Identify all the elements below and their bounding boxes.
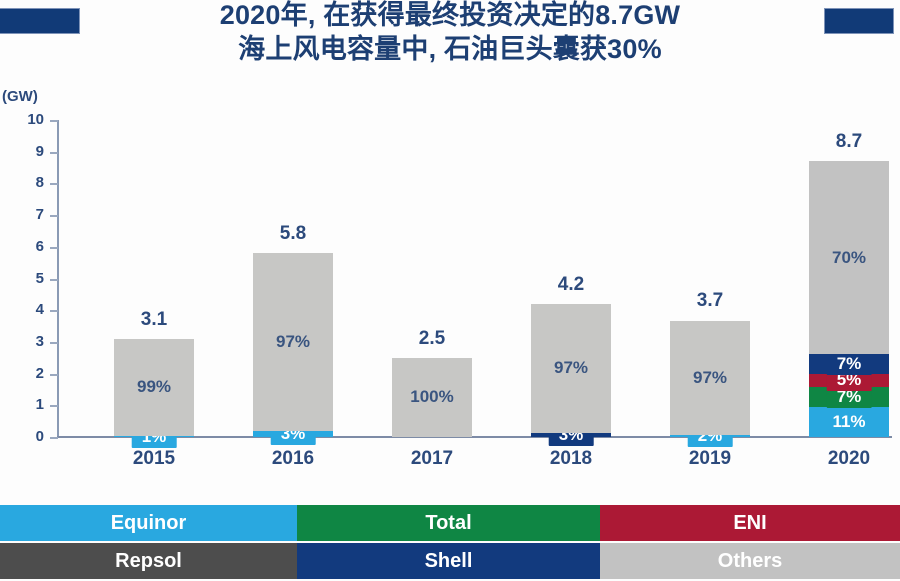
bar-group-2017[interactable]: 100%2.5 [367, 120, 497, 437]
stacked-bar[interactable]: 3%97% [253, 253, 333, 437]
x-axis-label-2015: 2015 [89, 448, 219, 470]
bar-segment-others[interactable]: 70% [809, 161, 889, 354]
chart-area: (GW) 109876543210 1%99%3.13%97%5.8100%2.… [0, 72, 900, 495]
bar-segment-equinor[interactable]: 1% [114, 436, 194, 437]
bar-segment-others[interactable]: 97% [253, 253, 333, 431]
stacked-bar[interactable]: 3%97% [531, 304, 611, 437]
bar-segment-shell[interactable]: 7% [809, 354, 889, 373]
bar-segment-shell[interactable]: 3% [531, 433, 611, 437]
segment-percent-label: 99% [137, 377, 171, 397]
segment-percent-label: 11% [832, 412, 865, 432]
y-axis-tick-label: 5 [8, 270, 44, 287]
y-axis-tick-label: 2 [8, 365, 44, 382]
y-axis-tick-label: 8 [8, 174, 44, 191]
x-axis-label-2020: 2020 [784, 448, 900, 470]
bar-total-label: 4.2 [506, 274, 636, 296]
bar-group-2016[interactable]: 3%97%5.8 [228, 120, 358, 437]
stacked-bar[interactable]: 1%99% [114, 339, 194, 437]
x-axis-label-2016: 2016 [228, 448, 358, 470]
x-axis-label-2019: 2019 [645, 448, 775, 470]
stacked-bar[interactable]: 100% [392, 358, 472, 437]
bar-group-2020[interactable]: 11%7%5%7%70%8.7 [784, 120, 900, 437]
segment-percent-label: 100% [410, 387, 453, 407]
legend-item-repsol[interactable]: Repsol [0, 543, 297, 579]
y-axis-tick-label: 6 [8, 238, 44, 255]
stacked-bar[interactable]: 11%7%5%7%70% [809, 161, 889, 437]
y-axis-tick-label: 0 [8, 428, 44, 445]
legend-row-1: EquinorTotalENI [0, 505, 900, 541]
legend-row-2: RepsolShellOthers [0, 543, 900, 579]
bar-segment-eni[interactable]: 5% [809, 374, 889, 388]
bar-total-label: 3.1 [89, 309, 219, 331]
legend-item-shell[interactable]: Shell [297, 543, 600, 579]
decorative-bar-left [0, 8, 80, 34]
segment-percent-label: 97% [554, 358, 588, 378]
y-axis-tick-label: 4 [8, 301, 44, 318]
x-axis-label-2017: 2017 [367, 448, 497, 470]
y-axis-tick-label: 1 [8, 396, 44, 413]
segment-percent-label: 97% [693, 368, 727, 388]
chart-title-line-1: 2020年, 在获得最终投资决定的8.7GW [130, 0, 770, 32]
chart-title-line-2: 海上风电容量中, 石油巨头囊获30% [130, 32, 770, 66]
bar-total-label: 2.5 [367, 328, 497, 350]
chart-title: 2020年, 在获得最终投资决定的8.7GW 海上风电容量中, 石油巨头囊获30… [130, 0, 770, 66]
bar-segment-others[interactable]: 100% [392, 358, 472, 437]
y-axis-tick-label: 10 [8, 111, 44, 128]
y-axis-tick-label: 3 [8, 333, 44, 350]
bar-segment-others[interactable]: 97% [531, 304, 611, 433]
segment-percent-label: 70% [832, 248, 866, 268]
legend-item-others[interactable]: Others [600, 543, 900, 579]
bar-segment-equinor[interactable]: 2% [670, 435, 750, 437]
decorative-bar-right [824, 8, 894, 34]
y-axis-tick [50, 437, 58, 439]
y-axis-unit-label: (GW) [2, 88, 38, 105]
bar-segment-equinor[interactable]: 3% [253, 431, 333, 437]
legend-item-total[interactable]: Total [297, 505, 600, 541]
bar-total-label: 5.8 [228, 223, 358, 245]
segment-percent-label: 97% [276, 332, 310, 352]
legend-item-equinor[interactable]: Equinor [0, 505, 297, 541]
segment-percent-label: 7% [827, 353, 872, 375]
legend-item-eni[interactable]: ENI [600, 505, 900, 541]
legend: EquinorTotalENI RepsolShellOthers [0, 505, 900, 581]
bar-group-2019[interactable]: 2%97%3.7 [645, 120, 775, 437]
y-axis-tick-label: 9 [8, 143, 44, 160]
bar-segment-others[interactable]: 99% [114, 339, 194, 436]
plot-region: 1%99%3.13%97%5.8100%2.53%97%4.22%97%3.71… [57, 120, 892, 437]
bar-total-label: 3.7 [645, 290, 775, 312]
title-band: 2020年, 在获得最终投资决定的8.7GW 海上风电容量中, 石油巨头囊获30… [0, 0, 900, 72]
bar-segment-others[interactable]: 97% [670, 321, 750, 435]
bar-group-2018[interactable]: 3%97%4.2 [506, 120, 636, 437]
y-axis-tick-label: 7 [8, 206, 44, 223]
stacked-bar[interactable]: 2%97% [670, 320, 750, 437]
x-axis-label-2018: 2018 [506, 448, 636, 470]
bar-group-2015[interactable]: 1%99%3.1 [89, 120, 219, 437]
bar-segment-equinor[interactable]: 11% [809, 407, 889, 437]
bar-total-label: 8.7 [784, 131, 900, 153]
